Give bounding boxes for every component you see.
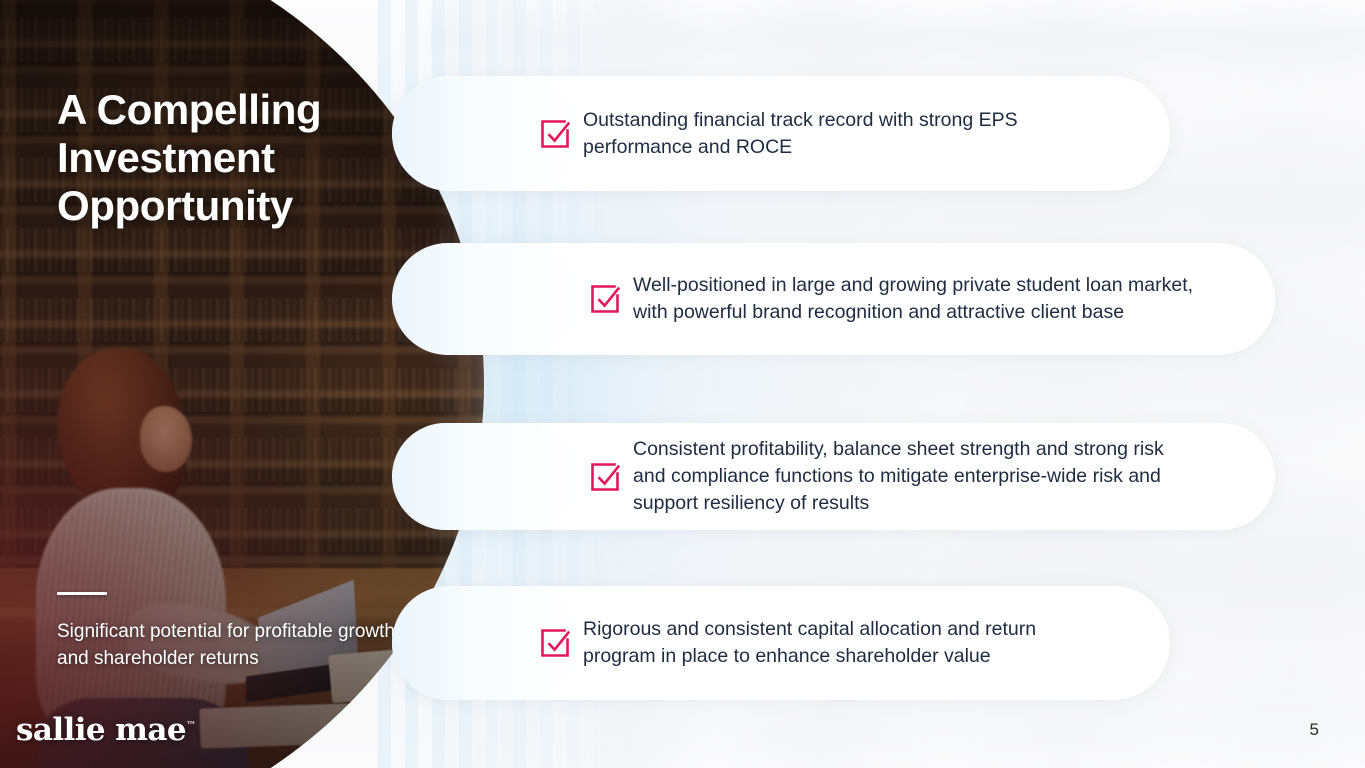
sallie-mae-logo: sallie mae™ bbox=[16, 712, 196, 748]
bullet-text-1: Outstanding financial track record with … bbox=[583, 107, 1053, 161]
bullet-pill-3[interactable]: Consistent profitability, balance sheet … bbox=[392, 423, 1275, 530]
bullet-text-2: Well-positioned in large and growing pri… bbox=[633, 272, 1213, 326]
bullet-pill-4[interactable]: Rigorous and consistent capital allocati… bbox=[392, 586, 1170, 700]
bullet-text-3: Consistent profitability, balance sheet … bbox=[633, 436, 1173, 517]
checkbox-checked-icon bbox=[587, 459, 623, 495]
bullet-pill-2[interactable]: Well-positioned in large and growing pri… bbox=[392, 243, 1275, 355]
logo-wordmark: sallie mae bbox=[16, 712, 186, 748]
slide-canvas: A Compelling Investment Opportunity Sign… bbox=[0, 0, 1365, 768]
checkbox-checked-icon bbox=[537, 625, 573, 661]
bullet-content-3: Consistent profitability, balance sheet … bbox=[587, 423, 1173, 530]
bullet-content-1: Outstanding financial track record with … bbox=[537, 76, 1053, 191]
trademark-mark: ™ bbox=[186, 721, 196, 732]
checkbox-checked-icon bbox=[537, 116, 573, 152]
bullet-content-4: Rigorous and consistent capital allocati… bbox=[537, 586, 1073, 700]
bullet-text-4: Rigorous and consistent capital allocati… bbox=[583, 616, 1073, 670]
bullet-pill-1[interactable]: Outstanding financial track record with … bbox=[392, 76, 1170, 191]
checkbox-checked-icon bbox=[587, 281, 623, 317]
page-title: A Compelling Investment Opportunity bbox=[57, 86, 427, 230]
page-number: 5 bbox=[1310, 720, 1319, 740]
bullet-content-2: Well-positioned in large and growing pri… bbox=[587, 243, 1213, 355]
divider-rule bbox=[57, 592, 107, 595]
page-subtitle: Significant potential for profitable gro… bbox=[57, 618, 407, 672]
